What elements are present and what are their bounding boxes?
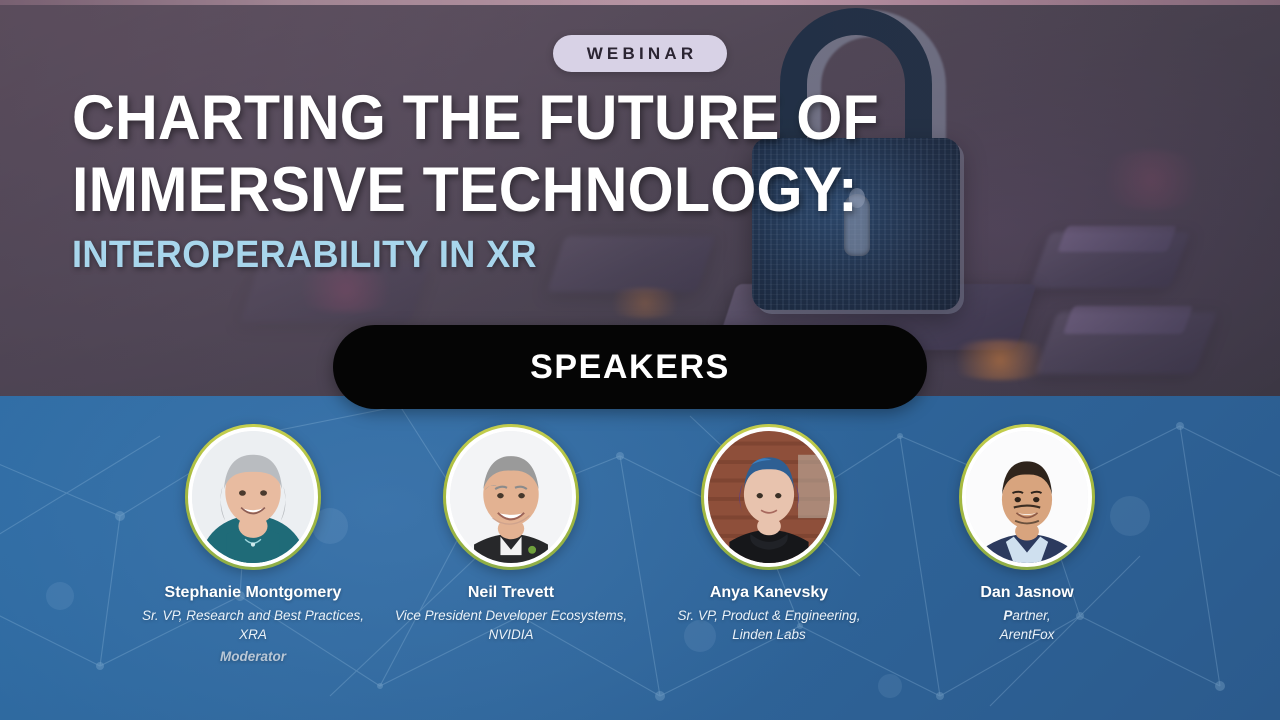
speakers-row: Stephanie Montgomery Sr. VP, Research an… <box>0 396 1280 720</box>
speaker-title: Vice President Developer Ecosystems, NVI… <box>395 606 627 644</box>
speaker-title-line2: NVIDIA <box>488 627 533 642</box>
speaker-photo <box>192 431 314 563</box>
speaker-title-line1: Sr. VP, Research and Best Practices, <box>142 608 364 623</box>
avatar <box>443 424 579 570</box>
speaker-title-line1: Sr. VP, Product & Engineering, <box>677 608 860 623</box>
speaker-title-bold-initial: P <box>1003 608 1012 623</box>
speaker-title-line2: ArentFox <box>1000 627 1055 642</box>
speaker-card: Anya Kanevsky Sr. VP, Product & Engineer… <box>640 424 898 644</box>
title-block: CHARTING THE FUTURE OF IMMERSIVE TECHNOL… <box>72 82 972 277</box>
speaker-title-line2: XRA <box>239 627 267 642</box>
webinar-badge-label: WEBINAR <box>583 44 698 64</box>
speaker-name: Anya Kanevsky <box>710 582 828 603</box>
speaker-name: Dan Jasnow <box>980 582 1073 603</box>
speaker-title-line1: Vice President Developer Ecosystems, <box>395 608 627 623</box>
title-line-1: CHARTING THE FUTURE OF <box>72 82 918 154</box>
speakers-banner: SPEAKERS <box>333 325 927 409</box>
speaker-card: Dan Jasnow Partner, ArentFox <box>898 424 1156 644</box>
speaker-role: Moderator <box>220 647 286 666</box>
avatar <box>959 424 1095 570</box>
speaker-title: Sr. VP, Product & Engineering, Linden La… <box>677 606 860 644</box>
speaker-card: Neil Trevett Vice President Developer Ec… <box>382 424 640 644</box>
avatar <box>185 424 321 570</box>
speaker-title-line2: Linden Labs <box>732 627 806 642</box>
webinar-promo-slide: WEBINAR CHARTING THE FUTURE OF IMMERSIVE… <box>0 0 1280 720</box>
speaker-photo <box>450 431 572 563</box>
webinar-badge: WEBINAR <box>553 35 727 72</box>
speaker-photo <box>966 431 1088 563</box>
title-line-2: IMMERSIVE TECHNOLOGY: <box>72 154 918 226</box>
speakers-section: Stephanie Montgomery Sr. VP, Research an… <box>0 396 1280 720</box>
avatar <box>701 424 837 570</box>
speaker-title: Partner, ArentFox <box>1000 606 1055 644</box>
speaker-name: Stephanie Montgomery <box>165 582 342 603</box>
speaker-title-line1: Partner, <box>1003 608 1050 623</box>
speaker-photo <box>708 431 830 563</box>
speakers-banner-label: SPEAKERS <box>530 348 730 387</box>
speaker-title: Sr. VP, Research and Best Practices, XRA <box>142 606 364 644</box>
speaker-card: Stephanie Montgomery Sr. VP, Research an… <box>124 424 382 666</box>
speaker-name: Neil Trevett <box>468 582 554 603</box>
subtitle: INTEROPERABILITY IN XR <box>72 233 927 277</box>
